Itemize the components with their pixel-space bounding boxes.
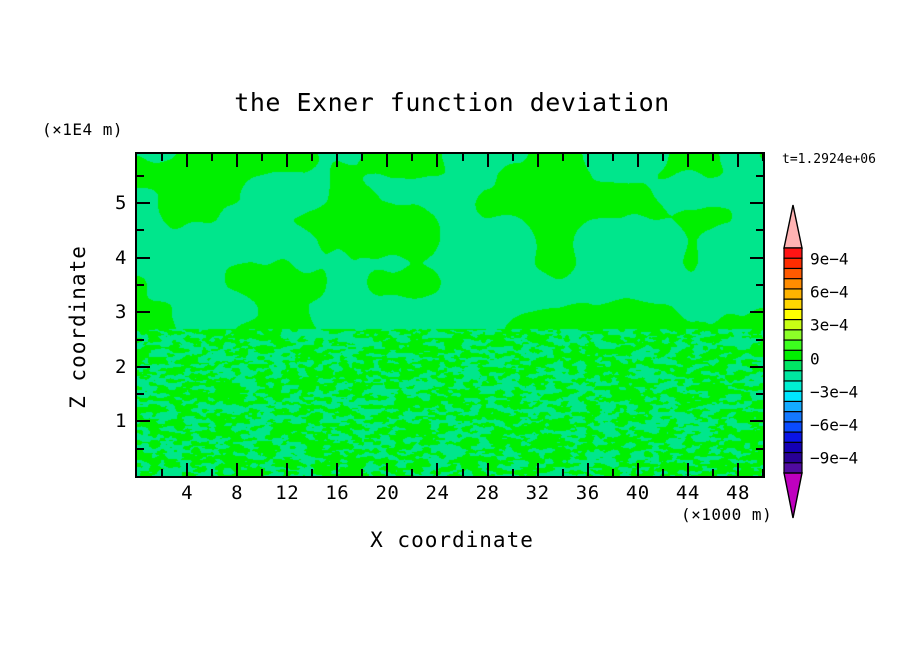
x-major-tick [587,463,589,476]
colorbar-tick-label: −9e−4 [810,449,858,468]
colorbar-under-arrow [784,473,802,518]
y-tick-label: 3 [101,301,127,323]
x-major-tick [737,463,739,476]
x-tick-label: 16 [325,482,349,504]
x-tick-label: 20 [375,482,399,504]
colorbar-tick-label: 9e−4 [810,250,849,269]
x-axis-unit-label: (×1000 m) [681,505,772,524]
y-minor-tick [756,393,763,395]
x-tick-label: 12 [275,482,299,504]
x-major-tick [186,154,188,167]
y-minor-tick [137,229,144,231]
x-minor-tick [512,469,514,476]
x-minor-tick [662,469,664,476]
x-major-tick [737,154,739,167]
x-tick-label: 40 [626,482,650,504]
x-minor-tick [261,154,263,161]
y-minor-tick [756,175,763,177]
x-minor-tick [762,469,764,476]
colorbar-tick-label: 6e−4 [810,283,849,302]
x-minor-tick [211,469,213,476]
x-minor-tick [462,469,464,476]
x-minor-tick [562,154,564,161]
x-tick-label: 28 [476,482,500,504]
x-minor-tick [211,154,213,161]
x-major-tick [637,463,639,476]
x-tick-label: 44 [676,482,700,504]
colorbar [783,204,803,519]
x-tick-label: 36 [576,482,600,504]
x-major-tick [487,154,489,167]
x-tick-label: 4 [181,482,193,504]
colorbar-band [784,442,802,453]
colorbar-over-arrow [784,205,802,248]
x-axis-title: X coordinate [0,528,904,552]
x-minor-tick [311,469,313,476]
y-minor-tick [137,393,144,395]
x-minor-tick [411,154,413,161]
x-minor-tick [411,469,413,476]
x-minor-tick [762,154,764,161]
x-minor-tick [562,469,564,476]
colorbar-tick-label: −6e−4 [810,415,858,434]
colorbar-band [784,432,802,443]
y-minor-tick [756,448,763,450]
colorbar-band [784,320,802,331]
colorbar-band [784,289,802,300]
contour-plot-area [135,152,765,478]
x-minor-tick [662,154,664,161]
colorbar-band [784,299,802,310]
y-axis-title: Z coordinate [66,227,90,427]
x-minor-tick [261,469,263,476]
x-major-tick [436,154,438,167]
colorbar-gradient [783,204,803,519]
x-minor-tick [512,154,514,161]
colorbar-band [784,340,802,351]
colorbar-tick-label: −3e−4 [810,382,858,401]
x-major-tick [236,154,238,167]
y-tick-label: 2 [101,356,127,378]
colorbar-band [784,453,802,464]
y-minor-tick [756,284,763,286]
colorbar-band [784,279,802,290]
y-major-tick [137,202,150,204]
colorbar-band [784,361,802,372]
x-minor-tick [361,469,363,476]
x-major-tick [286,154,288,167]
colorbar-band [784,309,802,320]
x-minor-tick [361,154,363,161]
colorbar-band [784,381,802,392]
x-major-tick [537,463,539,476]
y-tick-label: 4 [101,247,127,269]
x-minor-tick [161,154,163,161]
colorbar-band [784,248,802,259]
x-major-tick [587,154,589,167]
x-major-tick [537,154,539,167]
x-tick-label: 48 [726,482,750,504]
x-major-tick [186,463,188,476]
y-major-tick [750,366,763,368]
x-minor-tick [712,154,714,161]
colorbar-band [784,391,802,402]
x-major-tick [687,463,689,476]
y-major-tick [750,202,763,204]
x-major-tick [436,463,438,476]
colorbar-band [784,422,802,433]
colorbar-band [784,258,802,269]
figure-canvas: the Exner function deviation (×1E4 m) (×… [0,0,904,654]
contour-field [137,154,763,476]
x-major-tick [286,463,288,476]
y-major-tick [137,366,150,368]
x-minor-tick [612,469,614,476]
x-major-tick [386,463,388,476]
y-major-tick [137,257,150,259]
y-major-tick [750,257,763,259]
colorbar-band [784,330,802,341]
y-major-tick [750,420,763,422]
x-tick-label: 8 [231,482,243,504]
y-minor-tick [137,339,144,341]
x-tick-label: 32 [526,482,550,504]
x-major-tick [386,154,388,167]
x-major-tick [637,154,639,167]
colorbar-band [784,401,802,412]
colorbar-tick-label: 0 [810,349,820,368]
colorbar-band [784,412,802,423]
x-major-tick [236,463,238,476]
colorbar-band [784,371,802,382]
y-minor-tick [756,339,763,341]
x-minor-tick [161,469,163,476]
x-major-tick [487,463,489,476]
x-major-tick [336,463,338,476]
x-major-tick [687,154,689,167]
x-tick-label: 24 [426,482,450,504]
colorbar-tick-label: 3e−4 [810,316,849,335]
timestamp-annotation: t=1.2924e+06 [782,152,876,167]
x-minor-tick [311,154,313,161]
colorbar-band [784,350,802,361]
y-minor-tick [137,175,144,177]
y-tick-label: 1 [101,410,127,432]
y-minor-tick [756,229,763,231]
colorbar-band [784,463,802,474]
y-major-tick [750,311,763,313]
x-major-tick [336,154,338,167]
y-tick-label: 5 [101,192,127,214]
x-minor-tick [612,154,614,161]
y-major-tick [137,420,150,422]
x-minor-tick [712,469,714,476]
y-minor-tick [137,284,144,286]
x-minor-tick [462,154,464,161]
y-axis-unit-label: (×1E4 m) [42,120,123,139]
page-title: the Exner function deviation [0,88,904,117]
y-minor-tick [137,448,144,450]
colorbar-band [784,268,802,279]
y-major-tick [137,311,150,313]
